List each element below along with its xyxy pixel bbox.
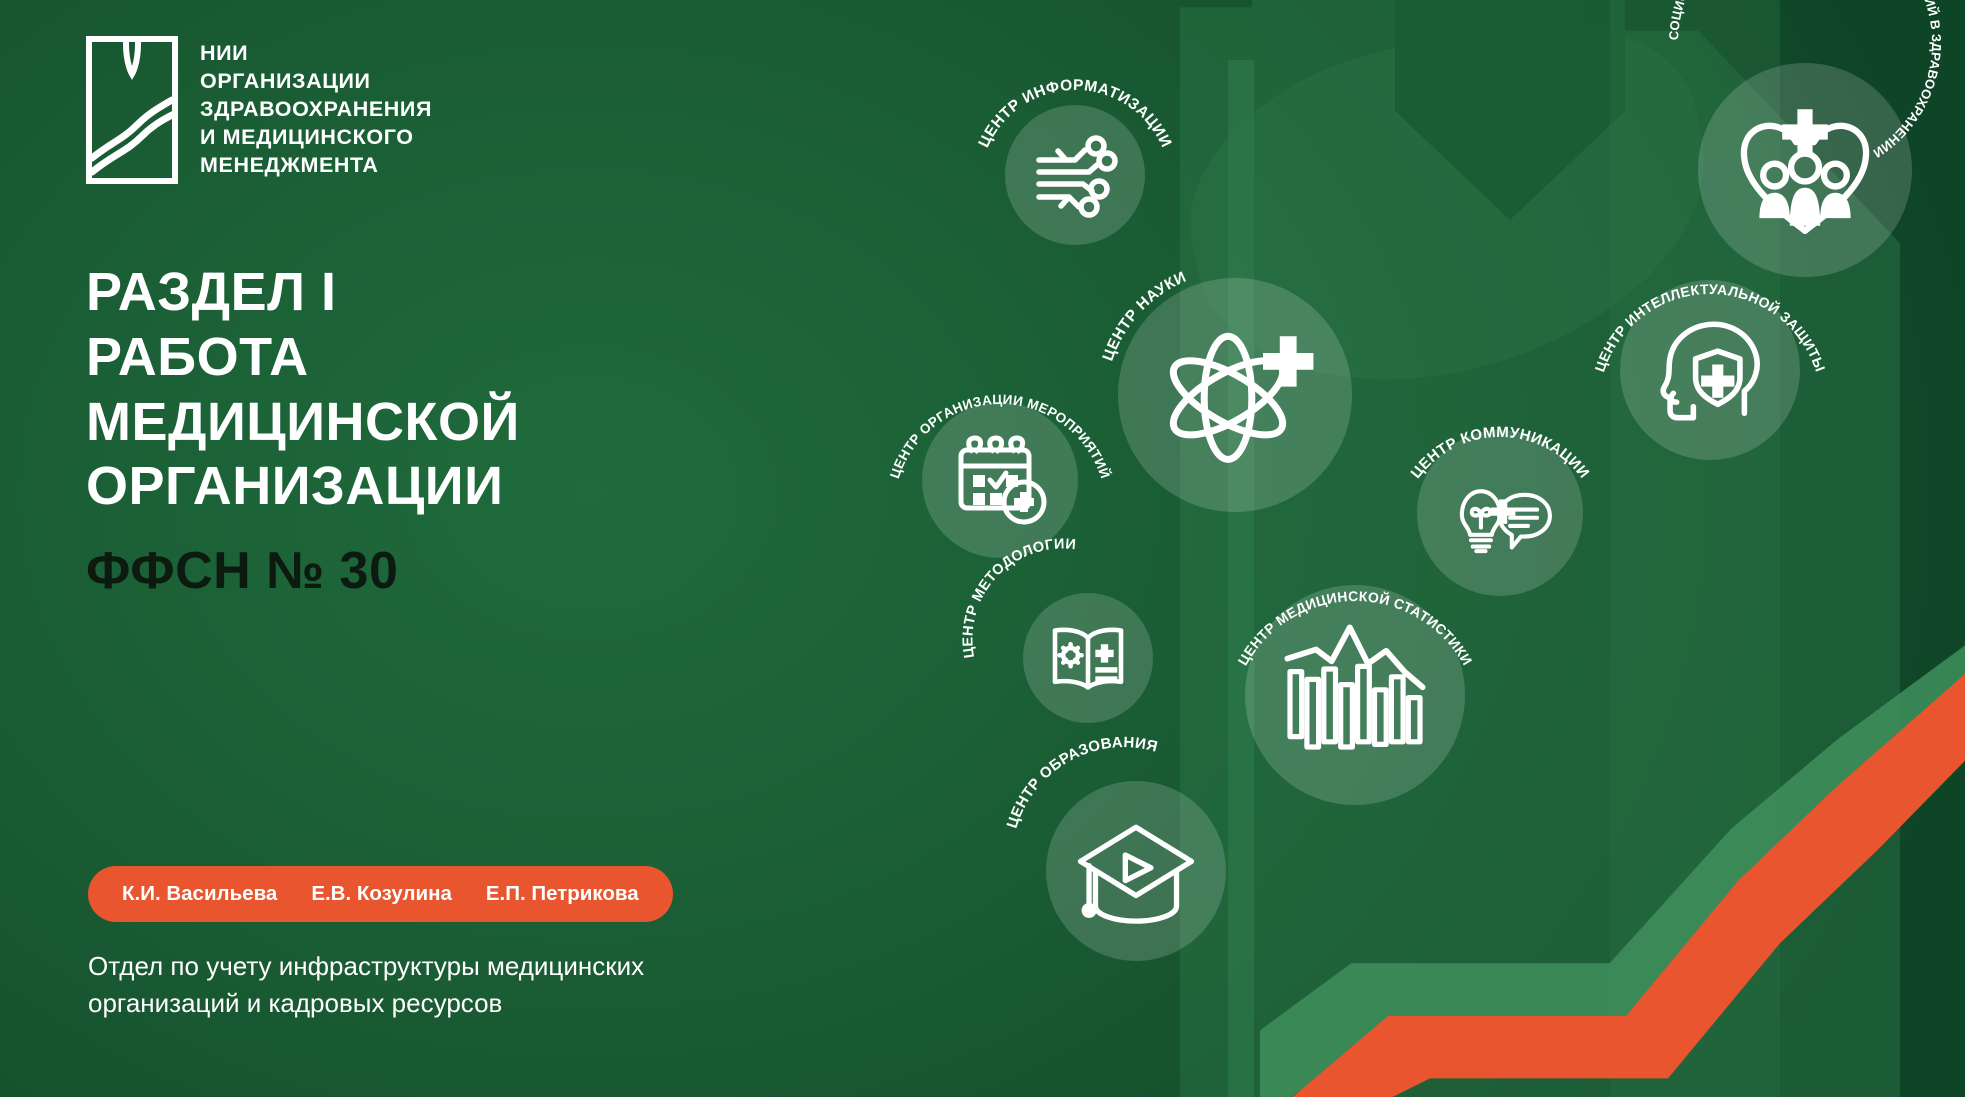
graduation-play-icon xyxy=(1046,781,1226,961)
center-node-communication: ЦЕНТР КОММУНИКАЦИИ xyxy=(1385,398,1615,628)
book-gear-icon xyxy=(1023,593,1153,723)
author-name: К.И. Васильева xyxy=(122,882,277,906)
title-line-4: ОРГАНИЗАЦИИ xyxy=(86,454,806,519)
title-line-1: РАЗДЕЛ I xyxy=(86,260,806,325)
department-text: Отдел по учету инфраструктуры медицински… xyxy=(88,948,808,1022)
heart-people-icon xyxy=(1698,63,1912,277)
center-node-digital-sociology: ЦЕНТР ЦИФРОВОЙ СОЦИОЛОГИИ И СОЦИОГУМАНИТ… xyxy=(1660,25,1950,315)
authors-badge: К.И. Васильева Е.В. Козулина Е.П. Петрик… xyxy=(88,866,673,922)
title-line-3: МЕДИЦИНСКОЙ xyxy=(86,390,806,455)
center-node-education: ЦЕНТР ОБРАЗОВАНИЯ xyxy=(1010,745,1260,995)
center-node-methodology: ЦЕНТР МЕТОДОЛОГИИ xyxy=(985,555,1190,760)
presentation-slide: НИИ ОРГАНИЗАЦИИ ЗДРАВООХРАНЕНИЯ И МЕДИЦИ… xyxy=(0,0,1965,1097)
bulb-chat-icon xyxy=(1417,430,1583,596)
calendar-medical-icon xyxy=(922,402,1078,558)
title-block: РАЗДЕЛ I РАБОТА МЕДИЦИНСКОЙ ОРГАНИЗАЦИИ … xyxy=(86,260,806,601)
author-name: Е.В. Козулина xyxy=(311,882,452,906)
form-number-subtitle: ФФСН № 30 xyxy=(86,541,806,601)
logo-text: НИИ ОРГАНИЗАЦИИ ЗДРАВООХРАНЕНИЯ И МЕДИЦИ… xyxy=(200,36,432,180)
center-node-science: ЦЕНТР НАУКИ xyxy=(1090,250,1380,540)
circuit-icon xyxy=(1005,105,1145,245)
nii-book-logo-icon xyxy=(86,36,178,184)
atom-medical-icon xyxy=(1118,278,1352,512)
author-name: Е.П. Петрикова xyxy=(486,882,639,906)
logo-block: НИИ ОРГАНИЗАЦИИ ЗДРАВООХРАНЕНИЯ И МЕДИЦИ… xyxy=(86,36,432,184)
title-line-2: РАБОТА xyxy=(86,325,806,390)
